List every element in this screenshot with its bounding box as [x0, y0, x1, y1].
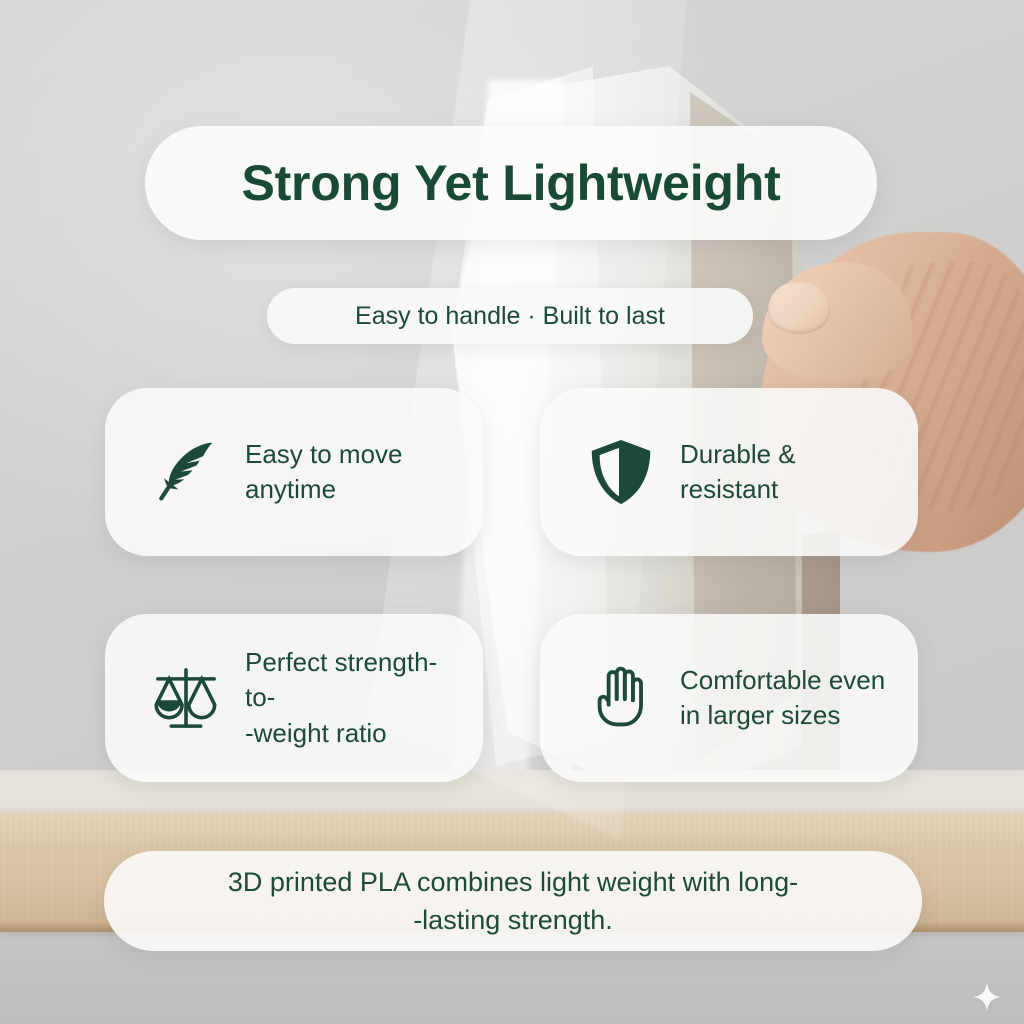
- feature-label: Perfect strength-to- -weight ratio: [245, 645, 457, 751]
- feature-label: Durable & resistant: [680, 437, 796, 508]
- subtitle-pill: Easy to handle · Built to last: [267, 288, 753, 344]
- infographic-canvas: Strong Yet Lightweight Easy to handle · …: [0, 0, 1024, 1024]
- page-title: Strong Yet Lightweight: [241, 154, 780, 212]
- feather-icon: [149, 435, 223, 509]
- feature-label: Comfortable even in larger sizes: [680, 663, 885, 734]
- title-pill: Strong Yet Lightweight: [145, 126, 877, 240]
- footer-text: 3D printed PLA combines light weight wit…: [228, 863, 798, 940]
- page-subtitle: Easy to handle · Built to last: [355, 302, 665, 331]
- feature-card-easy-to-move[interactable]: Easy to move anytime: [105, 388, 483, 556]
- footer-pill: 3D printed PLA combines light weight wit…: [104, 851, 922, 951]
- feature-label: Easy to move anytime: [245, 437, 403, 508]
- feature-card-durable-resistant[interactable]: Durable & resistant: [540, 388, 918, 556]
- open-hand-icon: [584, 661, 658, 735]
- sparkle-icon: [973, 983, 1001, 1011]
- feature-card-strength-to-weight[interactable]: Perfect strength-to- -weight ratio: [105, 614, 483, 782]
- balance-scale-icon: [149, 661, 223, 735]
- thumbnail: [768, 282, 830, 334]
- feature-card-comfortable-larger-sizes[interactable]: Comfortable even in larger sizes: [540, 614, 918, 782]
- shield-icon: [584, 435, 658, 509]
